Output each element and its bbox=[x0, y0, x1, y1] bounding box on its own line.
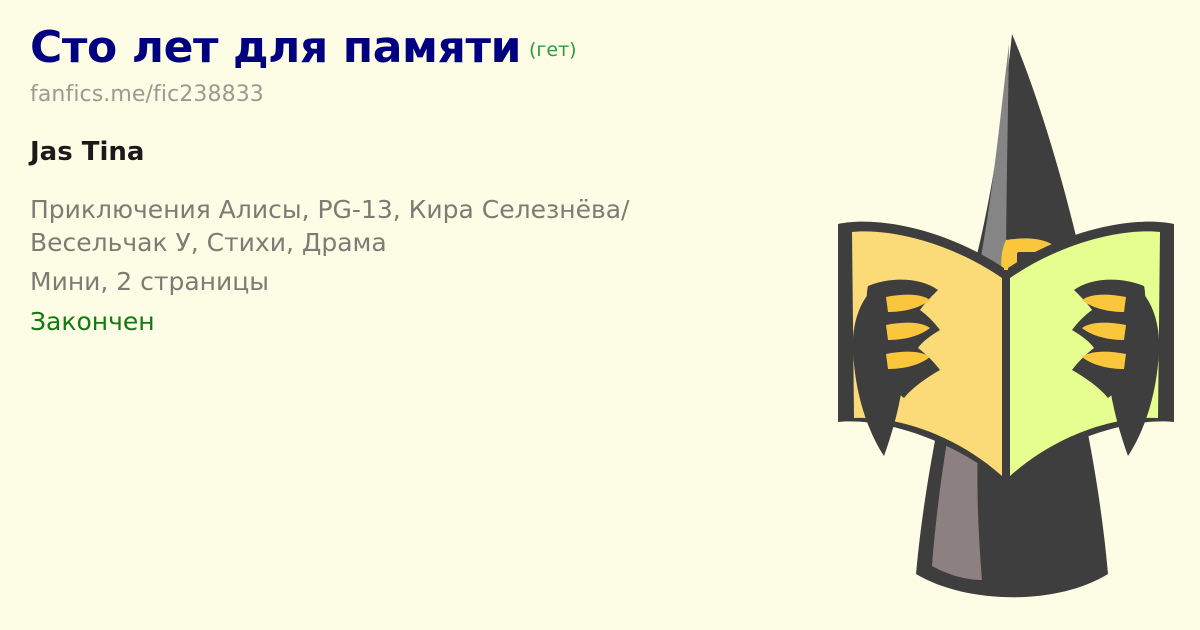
fic-status-badge: Закончен bbox=[30, 305, 790, 338]
fic-size: Мини, 2 страницы bbox=[30, 265, 790, 298]
fic-text-column: Сто лет для памяти(гет) fanfics.me/fic23… bbox=[30, 26, 790, 338]
fic-category-badge: (гет) bbox=[529, 39, 577, 61]
fic-preview-card: Сто лет для памяти(гет) fanfics.me/fic23… bbox=[0, 0, 1200, 630]
witch-reading-book-illustration bbox=[816, 14, 1196, 614]
title-row: Сто лет для памяти(гет) bbox=[30, 26, 790, 70]
fic-tags: Приключения Алисы, PG-13, Кира Селезнёва… bbox=[30, 193, 760, 259]
fic-url: fanfics.me/fic238833 bbox=[30, 82, 790, 107]
page-title: Сто лет для памяти bbox=[30, 22, 521, 73]
fic-author: Jas Tina bbox=[30, 137, 790, 167]
